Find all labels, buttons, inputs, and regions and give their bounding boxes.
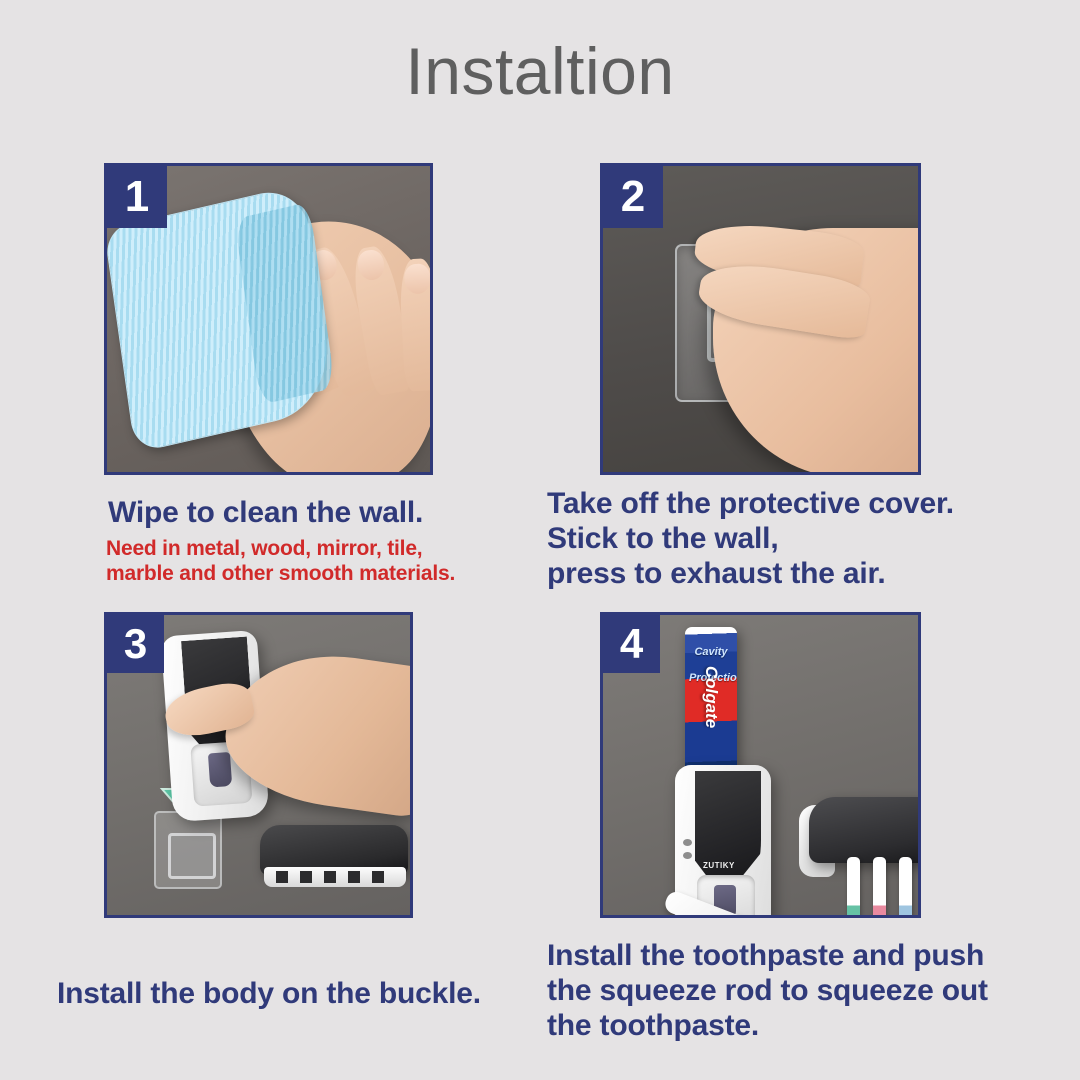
step-2-caption: Take off the protective cover. Stick to … — [547, 487, 954, 591]
step-1-image-panel: 1 — [104, 163, 433, 475]
dispenser-body: ZUTIKY — [675, 765, 771, 918]
dispenser-vents — [683, 839, 692, 865]
step-number-badge: 3 — [107, 615, 164, 673]
installation-infographic: Instaltion 1 Wipe to clean — [0, 0, 1080, 1080]
step-1-caption: Wipe to clean the wall. — [108, 496, 423, 531]
toothbrush — [847, 857, 860, 918]
toothbrush-holder — [799, 797, 921, 918]
step-4-image-panel: Cavity Protection Colgate ZUTIKY 4 — [600, 612, 921, 918]
dispenser-brand-label: ZUTIKY — [703, 861, 735, 870]
toothpaste-brand-label: Colgate — [701, 665, 721, 729]
toothbrush — [873, 857, 886, 918]
holder-cover — [809, 797, 921, 863]
step-number-badge: 4 — [603, 615, 660, 673]
toothbrush-holder — [260, 825, 408, 897]
toothpaste-tube: Cavity Protection Colgate — [685, 627, 737, 779]
step-3-caption: Install the body on the buckle. — [57, 977, 481, 1012]
holder-base — [264, 867, 406, 887]
step-number-badge: 2 — [603, 166, 663, 228]
step-4-caption: Install the toothpaste and push the sque… — [547, 939, 988, 1043]
toothpaste-variant-label: Cavity Protection — [689, 639, 733, 665]
page-title: Instaltion — [0, 38, 1080, 104]
step-1-subcaption: Need in metal, wood, mirror, tile, marbl… — [106, 537, 455, 587]
step-3-image-panel: 3 — [104, 612, 413, 918]
fingernail — [404, 263, 432, 294]
step-2-image-panel: 2 — [600, 163, 921, 475]
toothbrush — [899, 857, 912, 918]
fingernail — [356, 248, 387, 282]
step-number-badge: 1 — [107, 166, 167, 228]
